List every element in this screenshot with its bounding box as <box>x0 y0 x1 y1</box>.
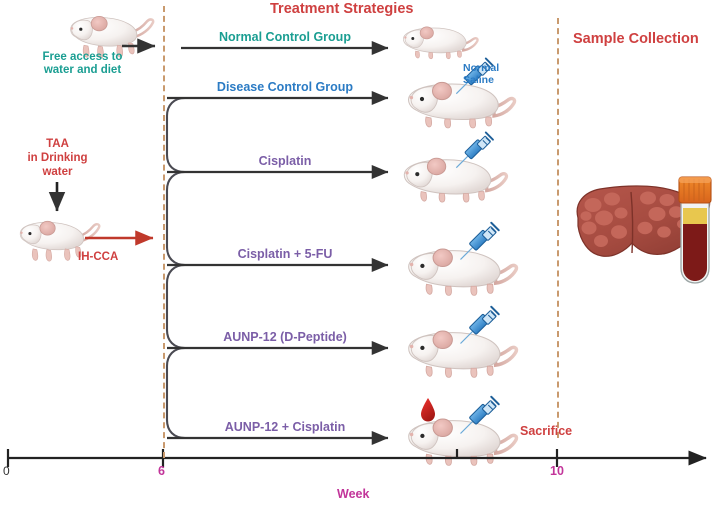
experimental-timeline-diagram: Treatment Strategies Sample Collection F… <box>0 0 718 508</box>
sample-collection-title: Sample Collection <box>573 31 699 47</box>
treatment-strategies-title: Treatment Strategies <box>270 1 413 17</box>
group-label-cisplatin-5fu: Cisplatin + 5-FU <box>185 247 385 261</box>
dashed-guide-week-10 <box>557 18 559 438</box>
treatment-row-arrows <box>167 48 388 438</box>
group-label-aunp12: AUNP-12 (D-Peptide) <box>185 330 385 344</box>
dashed-guide-week-6 <box>163 6 165 458</box>
row-mouse-aunp12 <box>409 307 517 378</box>
taa-drinking-water-label: TAA in Drinking water <box>5 137 110 179</box>
sacrifice-annotation: Sacrifice <box>520 424 572 438</box>
row-mouse-cisplatin <box>404 132 506 202</box>
group-label-normal-control: Normal Control Group <box>185 30 385 44</box>
branch-brackets <box>167 98 205 438</box>
axis-tick-label-10: 10 <box>550 464 564 478</box>
group-label-cisplatin: Cisplatin <box>185 154 385 168</box>
ih-cca-label: IH-CCA <box>78 251 118 263</box>
normal-saline-annotation: Normal Saline <box>463 62 523 86</box>
blood-collection-tube-icon <box>679 177 711 283</box>
axis-tick-label-6: 6 <box>158 464 165 478</box>
group-label-aunp12-cisplatin: AUNP-12 + Cisplatin <box>185 420 385 434</box>
blood-drop-icon <box>421 398 435 422</box>
row-mouse-cisplatin-5fu <box>409 223 517 296</box>
group-label-disease-control: Disease Control Group <box>185 80 385 94</box>
free-access-label: Free access to water and diet <box>25 51 140 77</box>
axis-tick-label-0: 0 <box>3 464 10 478</box>
axis-label-week: Week <box>337 487 369 501</box>
row-mouse-normal-control <box>403 27 477 59</box>
row-mouse-aunp12-cisplatin <box>409 397 517 466</box>
timeline-axis <box>7 449 706 467</box>
